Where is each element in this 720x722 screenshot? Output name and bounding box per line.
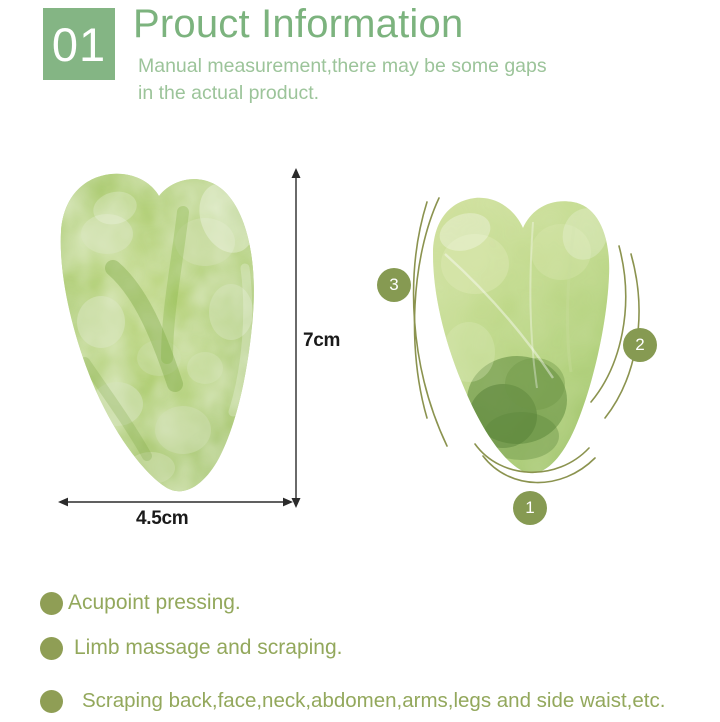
page-subtitle: Manual measurement,there may be some gap… <box>138 53 658 107</box>
callout-badge-2-label: 2 <box>635 335 644 355</box>
product-illustration-area: 7cm 4.5cm 3 2 1 <box>0 140 720 570</box>
left-stone-image <box>55 172 260 494</box>
header: 01 Prouct Information Manual measurement… <box>0 0 720 130</box>
bullet-dot-icon <box>40 592 63 615</box>
right-stone-image <box>425 192 620 482</box>
callout-badge-1-label: 1 <box>525 498 534 518</box>
width-dimension-label: 4.5cm <box>136 508 188 530</box>
bullet-dot-icon <box>40 637 63 660</box>
callout-badge-2[interactable]: 2 <box>623 328 657 362</box>
callout-badge-3-label: 3 <box>389 275 398 295</box>
page-title: Prouct Information <box>133 2 463 47</box>
callout-badge-1[interactable]: 1 <box>513 491 547 525</box>
feature-list-item: Limb massage and scraping. <box>0 627 720 669</box>
height-dimension-label: 7cm <box>303 330 340 352</box>
feature-text: Limb massage and scraping. <box>74 636 342 660</box>
feature-text: Acupoint pressing. <box>68 591 241 615</box>
feature-list-item: Scraping back,face,neck,abdomen,arms,leg… <box>0 680 720 722</box>
page-subtitle-line-2: in the actual product. <box>138 80 658 107</box>
section-number-badge: 01 <box>43 8 115 80</box>
page-subtitle-line-1: Manual measurement,there may be some gap… <box>138 55 547 77</box>
bullet-dot-icon <box>40 690 63 713</box>
callout-badge-3[interactable]: 3 <box>377 268 411 302</box>
feature-list-item: Acupoint pressing. <box>0 582 720 624</box>
section-number-label: 01 <box>52 21 106 68</box>
feature-text: Scraping back,face,neck,abdomen,arms,leg… <box>82 689 665 713</box>
feature-list: Acupoint pressing. Limb massage and scra… <box>0 578 720 720</box>
